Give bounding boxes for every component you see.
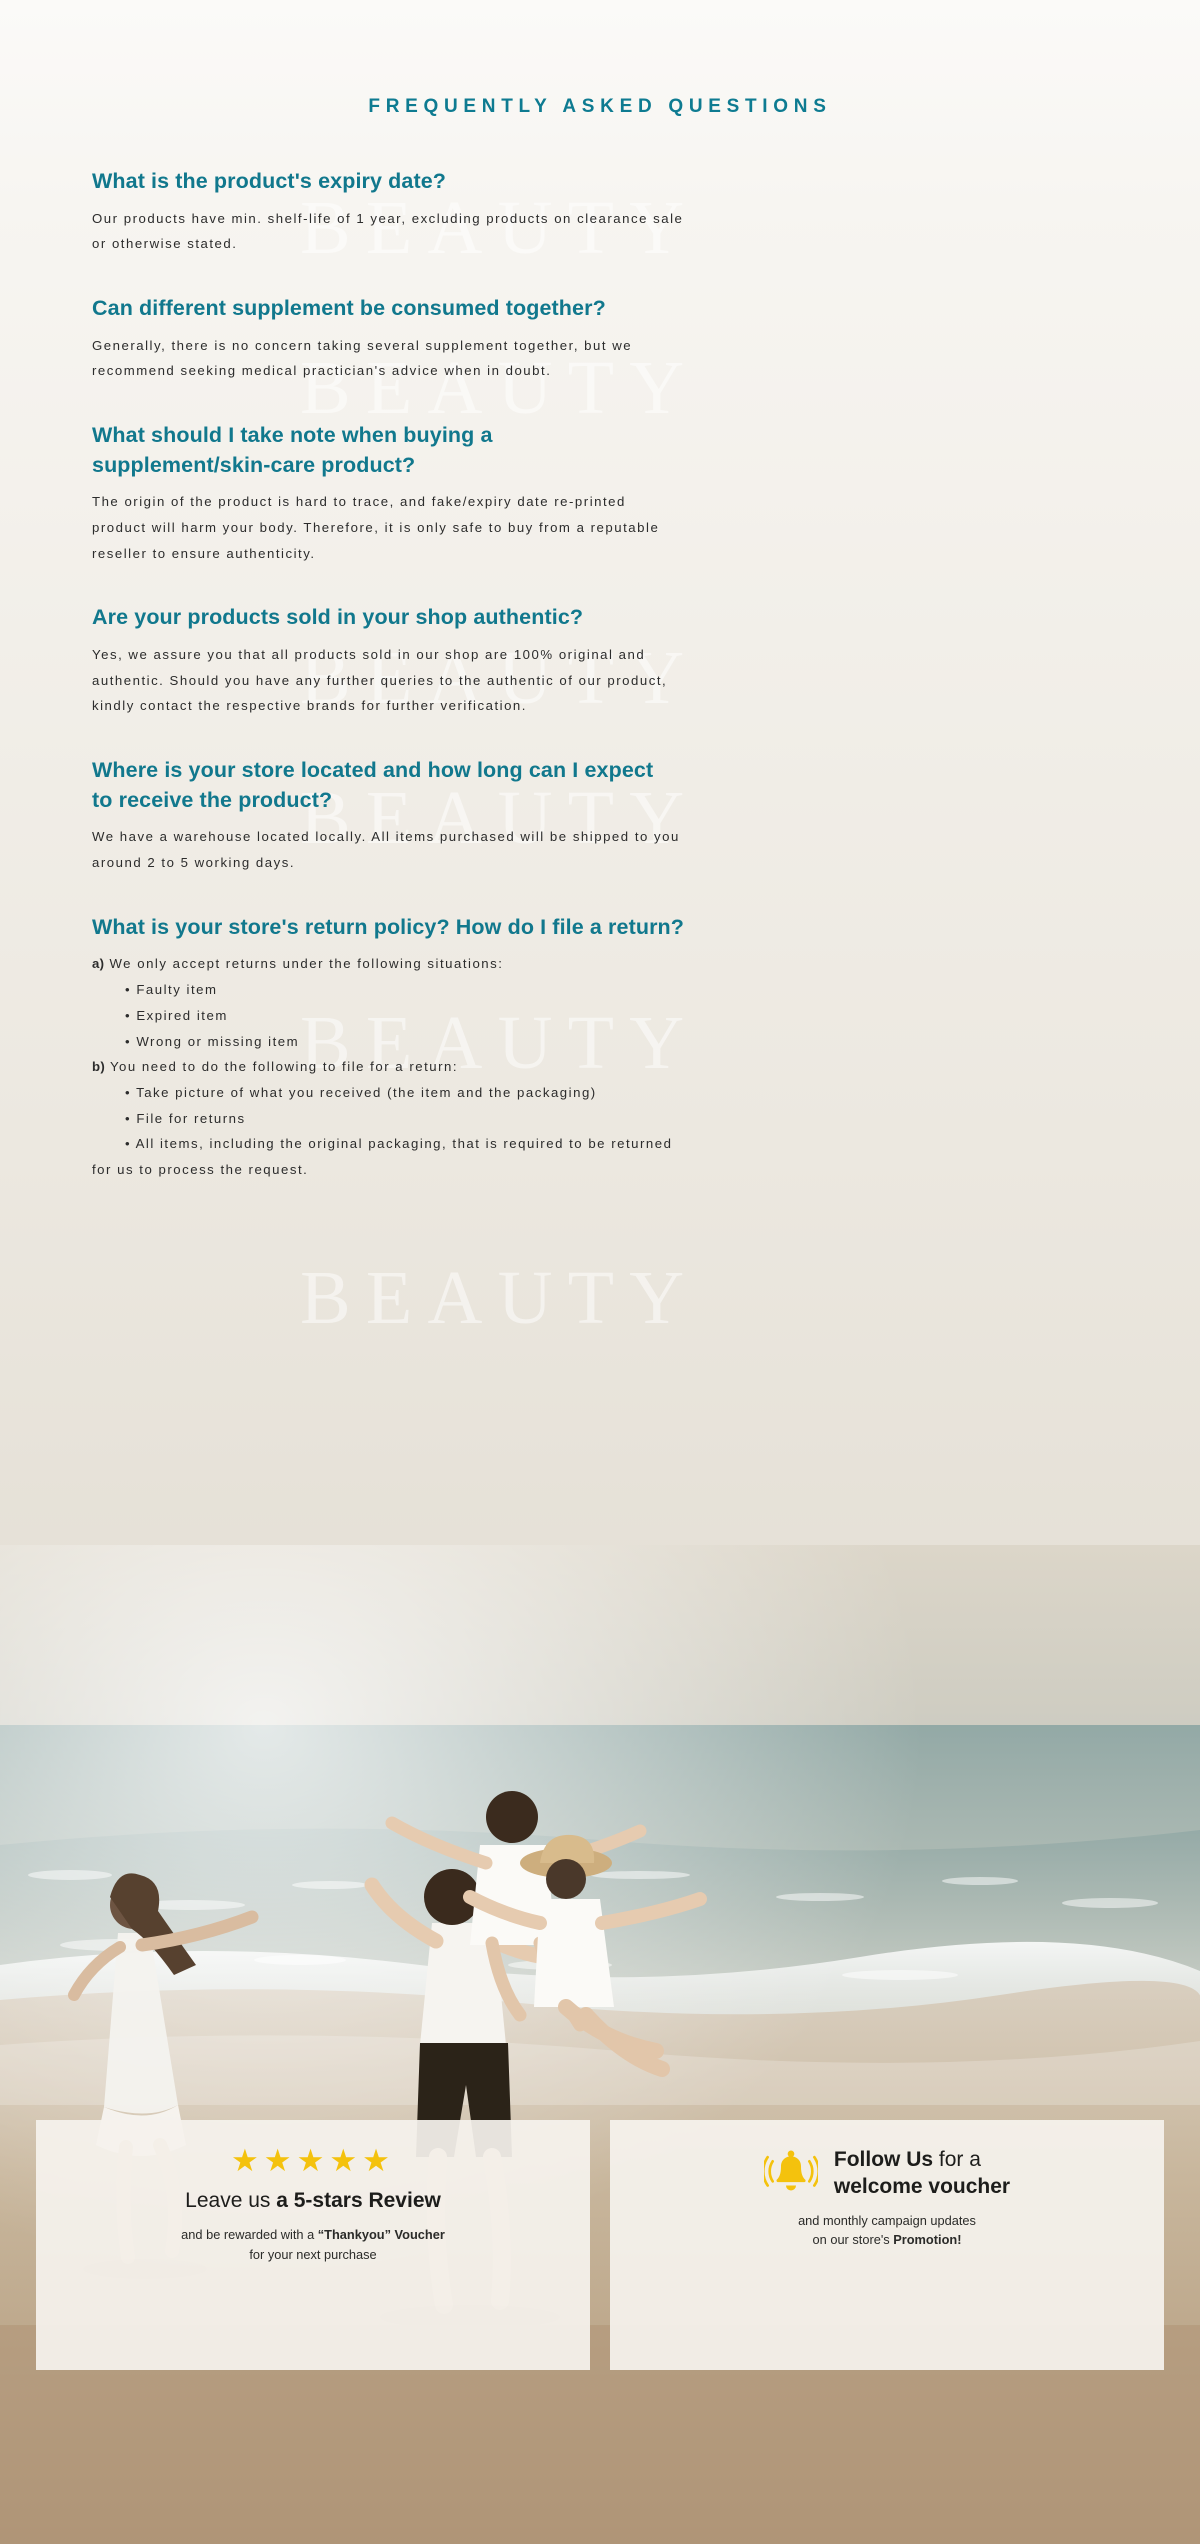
hero-beach-photo (0, 1545, 1200, 2544)
faq-question-line: What should I take note when buying a (92, 423, 493, 447)
faq-item: Are your products sold in your shop auth… (92, 606, 1108, 719)
faq-section: BEAUTY BEAUTY BEAUTY BEAUTY BEAUTY BEAUT… (0, 0, 1200, 1545)
faq-answer: a) We only accept returns under the foll… (92, 951, 1108, 1183)
faq-answer-line: product will harm your body. Therefore, … (92, 515, 1108, 541)
faq-answer-line: authentic. Should you have any further q… (92, 668, 1108, 694)
follow-headline-bold1: Follow Us (834, 2148, 933, 2171)
returns-group-a: a) We only accept returns under the foll… (92, 951, 1108, 977)
follow-headline-plain: for a (933, 2148, 981, 2171)
faq-answer-line: We have a warehouse located locally. All… (92, 824, 1108, 850)
promo-cards: ★★★★★ Leave us a 5-stars Review and be r… (0, 2120, 1200, 2370)
follow-card[interactable]: Follow Us for a welcome voucher and mont… (610, 2120, 1164, 2370)
returns-group-b: b) You need to do the following to file … (92, 1054, 1108, 1080)
review-headline-plain: Leave us (185, 2189, 276, 2212)
returns-group-a-label: a) (92, 956, 104, 971)
faq-answer-line: The origin of the product is hard to tra… (92, 489, 1108, 515)
bell-icon (764, 2148, 818, 2198)
follow-sub-line1: and monthly campaign updates (798, 2213, 976, 2228)
review-headline-bold: a 5-stars Review (276, 2189, 441, 2212)
faq-question: Are your products sold in your shop auth… (92, 606, 1108, 629)
faq-answer-line: recommend seeking medical practician's a… (92, 358, 1108, 384)
watermark-beauty: BEAUTY (300, 1255, 699, 1342)
follow-sub-line2-bold: Promotion! (893, 2232, 961, 2247)
review-card-headline: Leave us a 5-stars Review (54, 2187, 572, 2214)
faq-promo-page: BEAUTY BEAUTY BEAUTY BEAUTY BEAUTY BEAUT… (0, 0, 1200, 2544)
faq-question-line: to receive the product? (92, 789, 1108, 812)
faq-answer-line: around 2 to 5 working days. (92, 850, 1108, 876)
returns-bullet: • Faulty item (92, 977, 1108, 1003)
returns-bullet: • File for returns (92, 1106, 1108, 1132)
follow-card-subtext: and monthly campaign updates on our stor… (628, 2211, 1146, 2251)
follow-headline-bold2: welcome voucher (834, 2175, 1010, 2198)
faq-question: What should I take note when buying a su… (92, 424, 1108, 476)
faq-answer-line: Generally, there is no concern taking se… (92, 333, 1108, 359)
faq-answer: Yes, we assure you that all products sol… (92, 642, 1108, 719)
review-card[interactable]: ★★★★★ Leave us a 5-stars Review and be r… (36, 2120, 590, 2370)
returns-bullet: • All items, including the original pack… (92, 1131, 1108, 1157)
follow-card-headline-row: Follow Us for a welcome voucher (628, 2146, 1146, 2201)
returns-closing-line: for us to process the request. (92, 1157, 1108, 1183)
review-card-subtext: and be rewarded with a “Thankyou” Vouche… (54, 2225, 572, 2265)
page-title: FREQUENTLY ASKED QUESTIONS (92, 0, 1108, 118)
faq-question: What is your store's return policy? How … (92, 916, 1108, 939)
faq-item-returns: What is your store's return policy? How … (92, 916, 1108, 1183)
follow-card-headline: Follow Us for a welcome voucher (834, 2146, 1010, 2201)
review-sub-bold: “Thankyou” Voucher (318, 2227, 445, 2242)
faq-answer-line: or otherwise stated. (92, 231, 1108, 257)
faq-question: Can different supplement be consumed tog… (92, 297, 1108, 320)
faq-question: What is the product's expiry date? (92, 170, 1108, 193)
follow-sub-line2-plain: on our store's (813, 2232, 894, 2247)
returns-bullet: • Expired item (92, 1003, 1108, 1029)
faq-question: Where is your store located and how long… (92, 759, 1108, 811)
faq-question-line: supplement/skin-care product? (92, 454, 1108, 477)
returns-group-b-text: You need to do the following to file for… (110, 1059, 458, 1074)
returns-group-a-text: We only accept returns under the followi… (109, 956, 503, 971)
faq-question-line: Where is your store located and how long… (92, 758, 653, 782)
hero-illustration (0, 1545, 1200, 2544)
faq-answer: The origin of the product is hard to tra… (92, 489, 1108, 566)
faq-answer-line: kindly contact the respective brands for… (92, 693, 1108, 719)
review-sub-line2: for your next purchase (249, 2247, 376, 2262)
returns-bullet: • Wrong or missing item (92, 1029, 1108, 1055)
faq-answer: Generally, there is no concern taking se… (92, 333, 1108, 384)
five-stars-icon: ★★★★★ (54, 2146, 572, 2177)
faq-answer-line: Yes, we assure you that all products sol… (92, 642, 1108, 668)
faq-answer-line: Our products have min. shelf-life of 1 y… (92, 206, 1108, 232)
faq-item: Where is your store located and how long… (92, 759, 1108, 876)
faq-answer-line: reseller to ensure authenticity. (92, 541, 1108, 567)
returns-bullet: • Take picture of what you received (the… (92, 1080, 1108, 1106)
faq-answer: We have a warehouse located locally. All… (92, 824, 1108, 875)
review-sub-plain: and be rewarded with a (181, 2227, 318, 2242)
faq-answer: Our products have min. shelf-life of 1 y… (92, 206, 1108, 257)
returns-group-b-label: b) (92, 1059, 105, 1074)
faq-item: Can different supplement be consumed tog… (92, 297, 1108, 384)
faq-item: What should I take note when buying a su… (92, 424, 1108, 566)
faq-item: What is the product's expiry date? Our p… (92, 170, 1108, 257)
